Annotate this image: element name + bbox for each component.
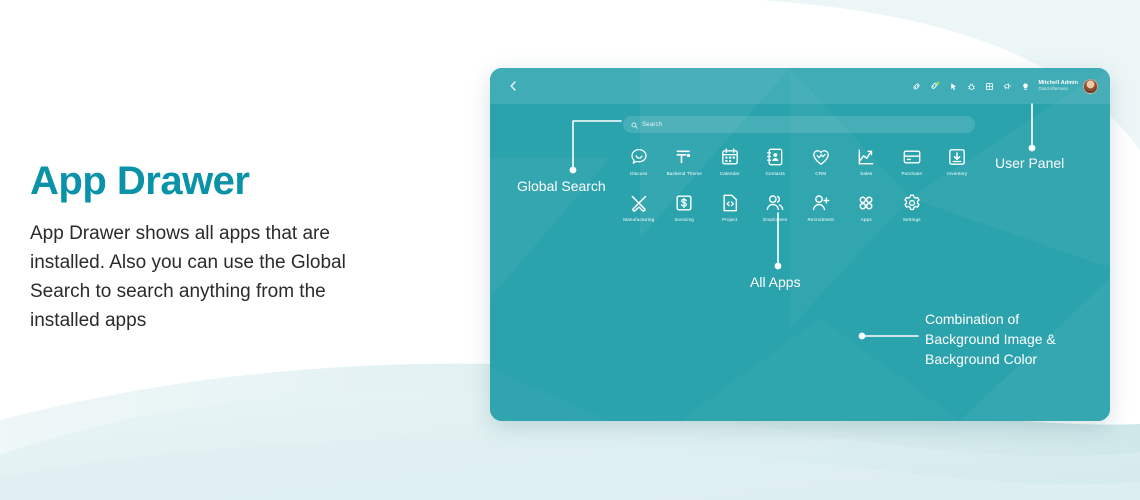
app-item-invoicing[interactable]: Invoicing — [662, 192, 708, 222]
user-panel[interactable]: Mitchell Admin Good Afternoon — [1038, 79, 1098, 94]
inventory-icon — [947, 146, 967, 168]
app-item-discuss[interactable]: Discuss — [616, 146, 662, 176]
sales-icon — [856, 146, 876, 168]
app-label: Discuss — [630, 171, 647, 176]
megaphone-icon[interactable] — [1003, 82, 1012, 91]
annotation-background-combination: Combination of Background Image & Backgr… — [925, 310, 1056, 370]
app-label: Contacts — [766, 171, 785, 176]
app-item-sales[interactable]: Sales — [844, 146, 890, 176]
app-label: Purchase — [901, 171, 922, 176]
user-name: Mitchell Admin — [1038, 81, 1078, 86]
system-icon-strip — [912, 81, 1030, 91]
app-item-purchase[interactable]: Purchase — [889, 146, 935, 176]
search-icon — [631, 116, 638, 134]
chevron-left-icon[interactable] — [506, 79, 520, 93]
panel-topbar: Mitchell Admin Good Afternoon — [490, 68, 1110, 104]
app-item-employees[interactable]: Employees — [753, 192, 799, 222]
app-item-project[interactable]: Project — [707, 192, 753, 222]
app-label: Invoicing — [675, 217, 694, 222]
contacts-icon — [765, 146, 785, 168]
app-item-calendar[interactable]: Calendar — [707, 146, 753, 176]
recruitment-icon — [811, 192, 831, 214]
annotation-user-panel: User Panel — [995, 155, 1064, 171]
crm-icon — [811, 146, 831, 168]
page-description: App Drawer shows all apps that are insta… — [30, 220, 390, 336]
app-label: Settings — [903, 217, 921, 222]
apps-icon — [856, 192, 876, 214]
app-item-recruitment[interactable]: Recruitment — [798, 192, 844, 222]
bug-icon[interactable] — [967, 82, 976, 91]
project-icon — [720, 192, 740, 214]
app-label: Apps — [861, 217, 872, 222]
app-item-inventory[interactable]: Inventory — [935, 146, 981, 176]
purchase-icon — [902, 146, 922, 168]
link-badge-icon[interactable] — [930, 81, 940, 91]
app-item-crm[interactable]: CRM — [798, 146, 844, 176]
calendar-icon — [720, 146, 740, 168]
backend-theme-icon — [674, 146, 694, 168]
cursor-arrow-icon[interactable] — [949, 82, 958, 91]
app-item-manufacturing[interactable]: Manufacturing — [616, 192, 662, 222]
app-label: Employees — [763, 217, 787, 222]
app-grid: Discuss Backend Theme Calendar Contacts — [616, 146, 980, 222]
user-greeting: Good Afternoon — [1038, 87, 1078, 91]
app-label: Project — [722, 217, 737, 222]
grid-apps-icon[interactable] — [985, 82, 994, 91]
avatar[interactable] — [1083, 79, 1098, 94]
app-label: CRM — [815, 171, 826, 176]
manufacturing-icon — [629, 192, 649, 214]
app-label: Recruitment — [808, 217, 834, 222]
discuss-icon — [629, 146, 649, 168]
page-title: App Drawer — [30, 160, 430, 202]
app-label: Inventory — [947, 171, 967, 176]
search-placeholder: Search — [642, 122, 662, 128]
search-input[interactable]: Search — [623, 116, 975, 133]
app-item-backend-theme[interactable]: Backend Theme — [662, 146, 708, 176]
marketing-copy: App Drawer App Drawer shows all apps tha… — [30, 160, 430, 336]
invoicing-icon — [674, 192, 694, 214]
annotation-global-search: Global Search — [517, 178, 606, 194]
app-label: Manufacturing — [623, 217, 654, 222]
settings-icon — [902, 192, 922, 214]
lightbulb-icon[interactable] — [1021, 82, 1030, 91]
app-label: Calendar — [720, 171, 740, 176]
app-item-settings[interactable]: Settings — [889, 192, 935, 222]
employees-icon — [765, 192, 785, 214]
app-label: Backend Theme — [667, 171, 702, 176]
app-item-contacts[interactable]: Contacts — [753, 146, 799, 176]
annotation-all-apps: All Apps — [750, 274, 801, 290]
app-item-apps[interactable]: Apps — [844, 192, 890, 222]
app-label: Sales — [860, 171, 872, 176]
link-icon[interactable] — [912, 82, 921, 91]
